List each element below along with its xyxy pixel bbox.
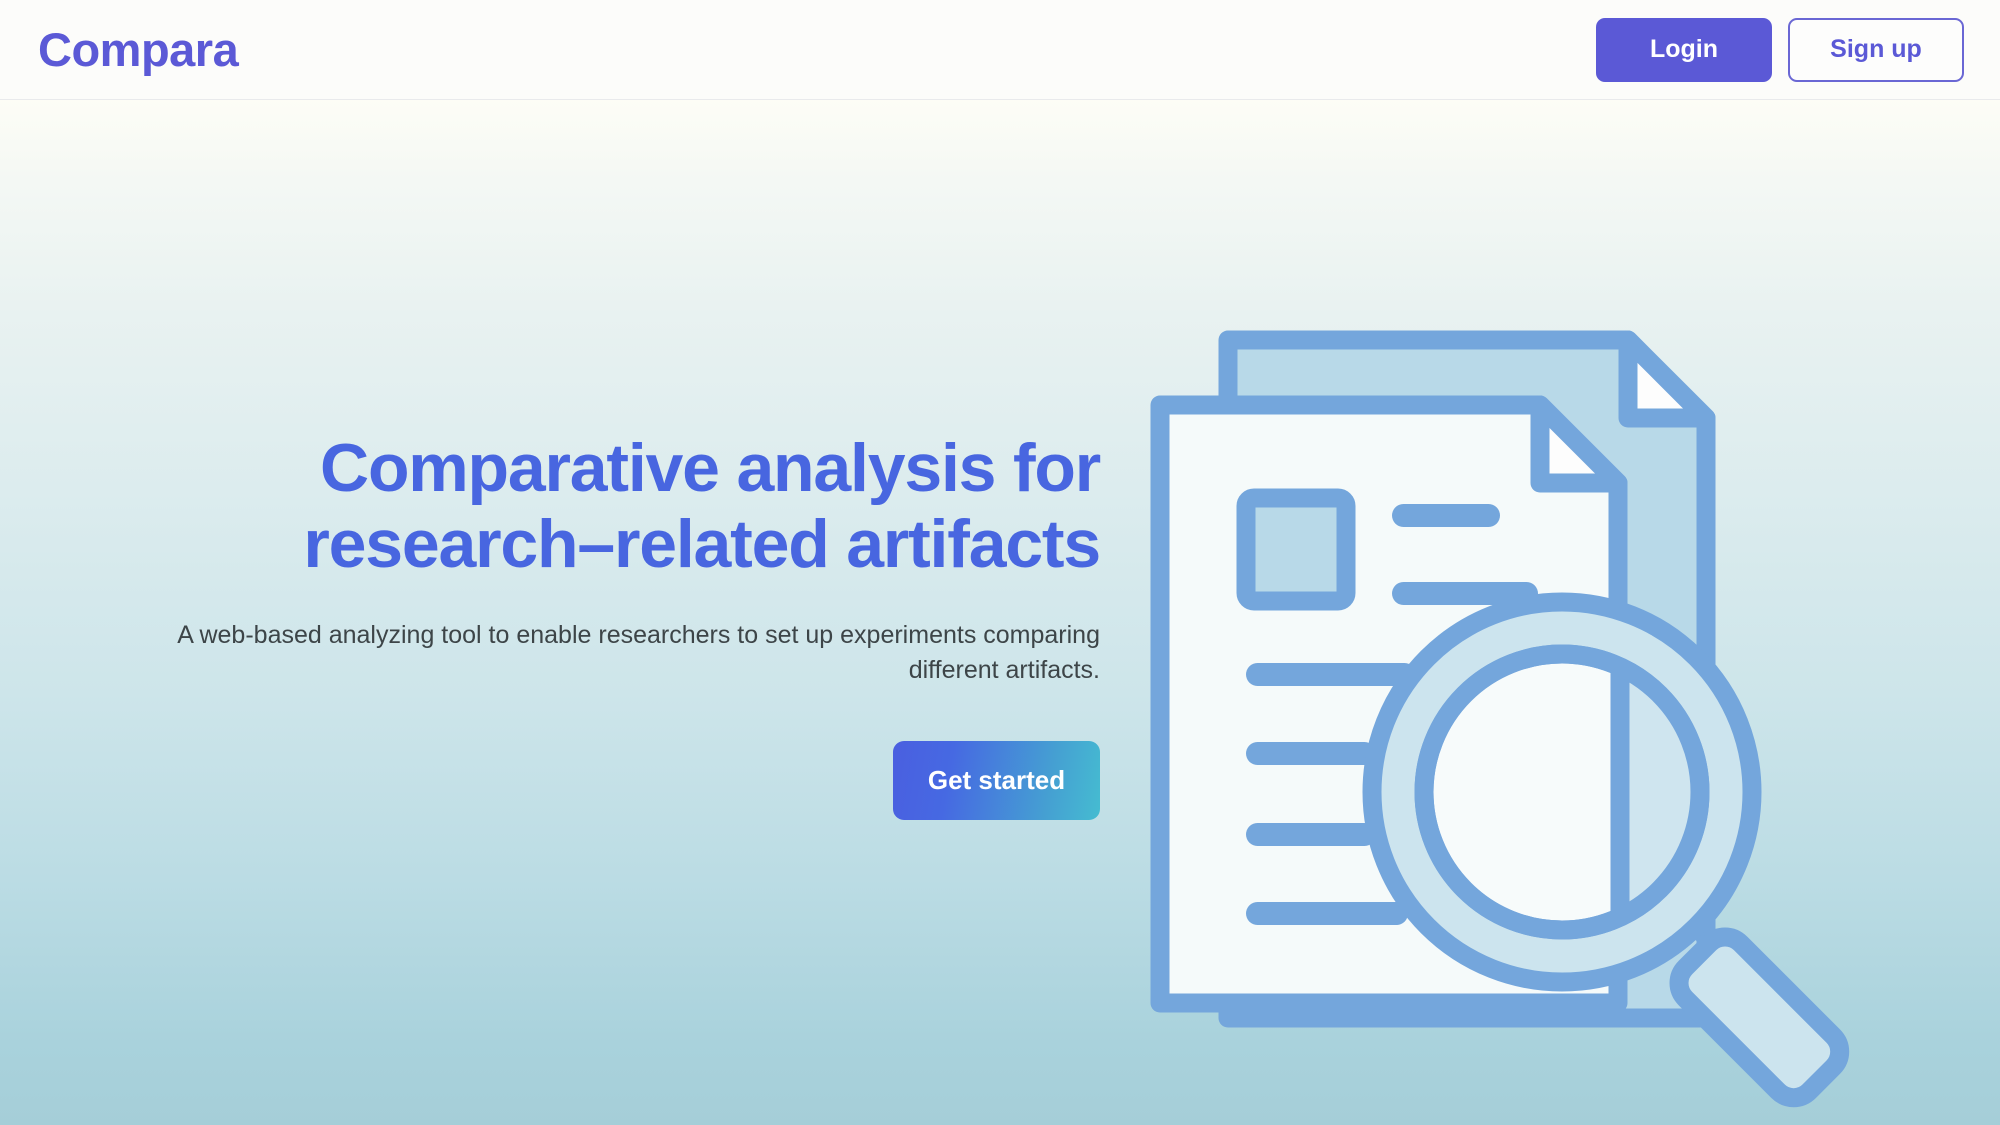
front-document: [1160, 405, 1618, 1003]
document-magnifier-icon: [1120, 280, 1960, 1125]
site-header: Compara Login Sign up: [0, 0, 2000, 100]
header-actions: Login Sign up: [1596, 18, 1964, 82]
magnifier-handle: [1670, 915, 1849, 1107]
signup-button[interactable]: Sign up: [1788, 18, 1964, 82]
hero-copy: Comparative analysis for research–relate…: [150, 430, 1100, 820]
landing-page: Compara Login Sign up Comparative analys…: [0, 0, 2000, 1125]
magnifier-outer-ring: [1372, 602, 1752, 982]
brand-logo[interactable]: Compara: [38, 26, 238, 73]
hero-subtitle: A web-based analyzing tool to enable res…: [150, 618, 1100, 687]
document-content-blocks: [1246, 498, 1538, 925]
document-magnifier-illustration: [1120, 280, 1960, 1125]
document-text-line: [1246, 742, 1376, 765]
document-text-line: [1246, 902, 1408, 925]
magnifier-lens-tint: [1620, 670, 1694, 914]
page-title: Comparative analysis for research–relate…: [150, 430, 1100, 582]
get-started-button[interactable]: Get started: [893, 741, 1100, 820]
page-title-line-1: Comparative analysis for: [320, 430, 1100, 506]
document-text-line: [1392, 504, 1500, 527]
document-thumbnail-box: [1246, 498, 1346, 601]
document-text-line: [1246, 823, 1376, 846]
login-button[interactable]: Login: [1596, 18, 1772, 82]
magnifier-icon: [1372, 602, 1849, 1107]
back-document: [1228, 340, 1706, 1018]
magnifier-lens-outline: [1424, 654, 1700, 930]
hero-section: Comparative analysis for research–relate…: [0, 100, 2000, 1125]
page-title-line-2: research–related artifacts: [303, 506, 1100, 582]
hero-cta-row: Get started: [150, 741, 1100, 820]
document-text-line: [1392, 582, 1538, 605]
document-text-line: [1246, 663, 1416, 686]
magnifier-lens: [1424, 654, 1700, 930]
